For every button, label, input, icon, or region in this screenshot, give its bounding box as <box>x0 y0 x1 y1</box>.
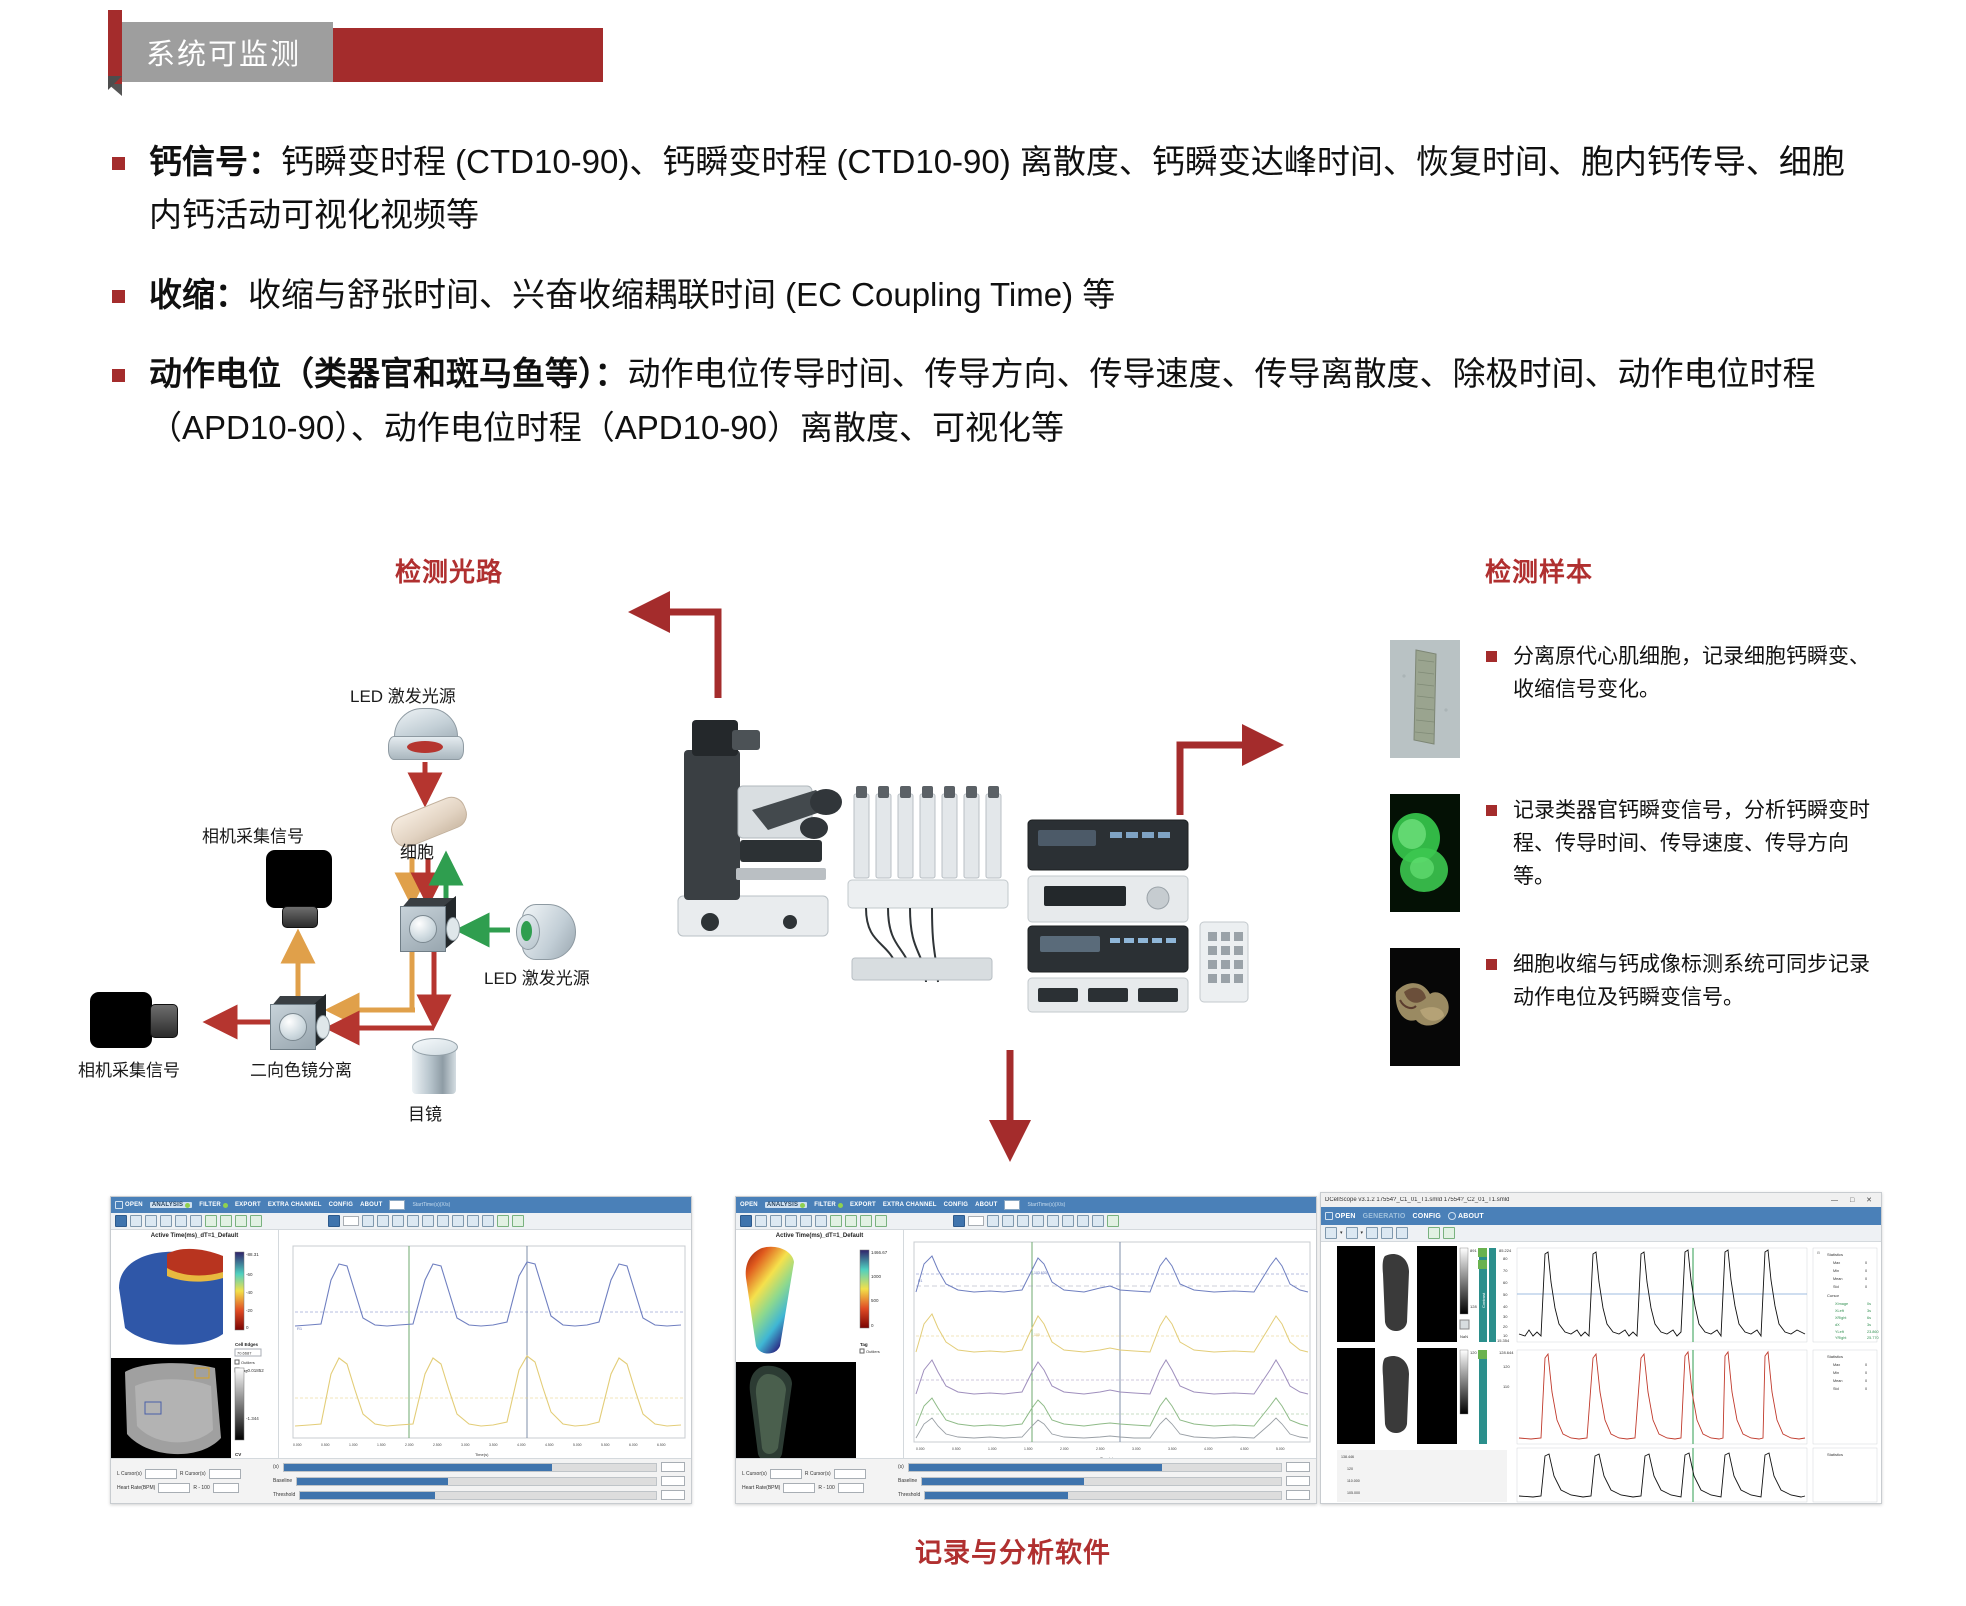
svg-text:5.500: 5.500 <box>601 1443 610 1447</box>
sw3-menu-generation[interactable]: GENERATIO <box>1363 1213 1406 1220</box>
tool-movie-icon[interactable] <box>875 1215 887 1227</box>
svg-text:25.770: 25.770 <box>1867 1336 1879 1340</box>
svg-text:Statistics: Statistics <box>1827 1452 1843 1457</box>
svg-text:Cursor: Cursor <box>1827 1293 1840 1298</box>
sw2-time-slider[interactable] <box>908 1463 1282 1472</box>
tool-zoom-icon[interactable] <box>145 1215 157 1227</box>
sample-text-zebrafish: 细胞收缩与钙成像标测系统可同步记录动作电位及钙瞬变信号。 <box>1513 948 1871 1014</box>
sw2-map-title: Active Time(ms)_dT=1_Default <box>736 1230 903 1240</box>
beam-splitter-cube-upper-icon <box>400 898 456 954</box>
tool-measure-icon[interactable] <box>1396 1227 1408 1239</box>
sw2-toolbar[interactable] <box>736 1213 1316 1230</box>
svg-text:891: 891 <box>1470 1248 1477 1253</box>
sw1-baseline-input[interactable] <box>661 1476 685 1486</box>
svg-text:0: 0 <box>1865 1363 1867 1367</box>
svg-text:Min: Min <box>1833 1371 1839 1375</box>
sw2-starttime-label: StartTime(s)(X/s) <box>1027 1202 1065 1208</box>
tool-image-icon[interactable] <box>845 1215 857 1227</box>
svg-text:100: 100 <box>1034 1333 1040 1337</box>
sw1-baseline-slider[interactable] <box>296 1477 657 1486</box>
tool-slope-icon[interactable] <box>1346 1227 1358 1239</box>
svg-text:0: 0 <box>1865 1285 1867 1289</box>
caption-optical-path: 检测光路 <box>395 552 503 589</box>
sw1-menu-filter[interactable]: FILTER <box>199 1202 228 1208</box>
trace-conduction-icon[interactable] <box>467 1215 479 1227</box>
svg-text:0: 0 <box>1865 1277 1867 1281</box>
sw1-menu-about[interactable]: ABOUT <box>360 1202 382 1208</box>
sw1-threshold-slider[interactable] <box>299 1491 657 1500</box>
channel-count-input[interactable] <box>968 1216 984 1226</box>
header-gray-plate: 系统可监测 <box>122 22 333 82</box>
svg-text:⊟: ⊟ <box>1817 1251 1820 1255</box>
detection-sample-list: 分离原代心肌细胞，记录细胞钙瞬变、收缩信号变化。 记录类器官钙瞬变信号，分析钙瞬… <box>1390 640 1910 1102</box>
svg-text:5.000: 5.000 <box>1276 1447 1285 1451</box>
bullet-label-action-potential: 动作电位（类器官和斑马鱼等）： <box>149 355 628 392</box>
svg-text:3.000: 3.000 <box>1132 1447 1141 1451</box>
svg-text:120: 120 <box>1503 1364 1510 1369</box>
sw2-r-cursor-input[interactable] <box>834 1469 866 1479</box>
svg-text:Max: Max <box>1833 1261 1840 1265</box>
svg-text:128: 128 <box>1470 1304 1477 1309</box>
led-excitation-source-top-icon <box>388 708 462 758</box>
organoid-fluorescence-photo <box>1390 794 1460 912</box>
trace-stats-icon[interactable] <box>482 1215 494 1227</box>
sw2-menu-export[interactable]: EXPORT <box>850 1202 876 1208</box>
svg-text:-60: -60 <box>246 1272 253 1277</box>
status-dot-icon <box>838 1203 843 1208</box>
svg-text:CV: CV <box>235 1452 241 1457</box>
svg-text:YLeft: YLeft <box>1835 1330 1845 1334</box>
bullet-square-icon <box>1486 651 1497 662</box>
sw3-charts[interactable]: 891 128 NaN Contrast 85.224 807060 50403… <box>1321 1242 1881 1504</box>
svg-text:Mean: Mean <box>1833 1277 1843 1281</box>
svg-text:XImage: XImage <box>1835 1302 1848 1306</box>
tool-layers-icon[interactable] <box>235 1215 247 1227</box>
sw2-menu-open[interactable]: OPEN <box>740 1202 758 1208</box>
svg-text:-40: -40 <box>246 1290 253 1295</box>
svg-text:6.500: 6.500 <box>657 1443 666 1447</box>
sample-text-cardiomyocyte: 分离原代心肌细胞，记录细胞钙瞬变、收缩信号变化。 <box>1513 640 1871 706</box>
sw2-time-input[interactable] <box>1286 1462 1310 1472</box>
svg-text:-88.31: -88.31 <box>246 1252 259 1257</box>
sw3-menubar[interactable]: OPEN GENERATIO CONFIG ABOUT <box>1321 1207 1881 1225</box>
svg-text:1.500: 1.500 <box>377 1443 386 1447</box>
svg-text:2.000: 2.000 <box>405 1443 414 1447</box>
bullet-text-calcium: 钙信号：钙瞬变时程 (CTD10-90)、钙瞬变时程 (CTD10-90) 离散… <box>149 135 1872 242</box>
svg-text:3s: 3s <box>1867 1323 1871 1327</box>
tool-select-icon[interactable] <box>115 1215 127 1227</box>
sw1-status-bar[interactable]: L Cursor(s)R Cursor(s) Heart Rate(BPM)R … <box>111 1458 691 1503</box>
tool-map-icon[interactable] <box>800 1215 812 1227</box>
svg-text:128.644: 128.644 <box>1499 1350 1514 1355</box>
bullet-square-icon <box>112 290 125 303</box>
bullet-item-contraction: 收缩：收缩与舒张时间、兴奋收缩耦联时间 (EC Coupling Time) 等 <box>112 268 1872 321</box>
trace-ctd-icon[interactable] <box>1077 1215 1089 1227</box>
eyepiece-icon <box>412 1038 456 1096</box>
trace-baseline-icon[interactable] <box>1032 1215 1044 1227</box>
svg-text:0: 0 <box>1865 1261 1867 1265</box>
trace-ctd-icon[interactable] <box>452 1215 464 1227</box>
svg-text:0.000: 0.000 <box>916 1447 925 1451</box>
sw1-time-input[interactable] <box>661 1462 685 1472</box>
sw2-menu-extra-channel[interactable]: EXTRA CHANNEL <box>883 1202 937 1208</box>
sw1-menu-export[interactable]: EXPORT <box>235 1202 261 1208</box>
svg-text:80: 80 <box>1503 1256 1508 1261</box>
svg-text:3.000: 3.000 <box>461 1443 470 1447</box>
svg-text:0: 0 <box>246 1325 249 1330</box>
sw1-menu-open[interactable]: OPEN <box>115 1201 143 1209</box>
svg-text:2.500: 2.500 <box>433 1443 442 1447</box>
trace-print-icon[interactable] <box>512 1215 524 1227</box>
status-dot-icon <box>223 1203 228 1208</box>
tool-image-icon[interactable] <box>220 1215 232 1227</box>
sw2-menu-filter[interactable]: FILTER <box>814 1202 843 1208</box>
svg-text:40: 40 <box>1503 1304 1508 1309</box>
sample-item-organoid: 记录类器官钙瞬变信号，分析钙瞬变时程、传导时间、传导速度、传导方向等。 <box>1390 794 1910 912</box>
calcium-transient-traces-window-1[interactable]: R1 0.0000.5001.000 1.5002.0002.500 3.000… <box>279 1230 691 1476</box>
svg-text:3s: 3s <box>1867 1309 1871 1313</box>
sw3-menu-open[interactable]: OPEN <box>1325 1212 1356 1220</box>
sw2-menubar[interactable]: OPEN ANALYSIS FILTER EXPORT EXTRA CHANNE… <box>736 1197 1316 1213</box>
tool-peak-icon[interactable] <box>1325 1227 1337 1239</box>
label-camera-top: 相机采集信号 <box>202 822 304 847</box>
svg-text:138.446: 138.446 <box>1341 1455 1354 1459</box>
bullet-label-calcium: 钙信号： <box>149 143 281 180</box>
sw2-threshold-input[interactable] <box>1286 1490 1310 1500</box>
sw1-menu-analysis[interactable]: ANALYSIS <box>150 1202 192 1208</box>
svg-text:Statistics: Statistics <box>1827 1354 1843 1359</box>
bullet-body-contraction: 收缩与舒张时间、兴奋收缩耦联时间 (EC Coupling Time) 等 <box>248 276 1115 313</box>
led-excitation-source-side-icon <box>512 900 574 962</box>
label-cell: 细胞 <box>400 838 434 863</box>
svg-text:120: 120 <box>1347 1467 1353 1471</box>
svg-text:70.6687: 70.6687 <box>237 1351 252 1356</box>
svg-text:6s: 6s <box>1867 1316 1871 1320</box>
sw2-menu-config[interactable]: CONFIG <box>944 1202 969 1208</box>
svg-text:-20: -20 <box>246 1308 253 1313</box>
sw3-title-bar[interactable]: DCellScope v3.1.2 17554?_C1_01_T1.smld 1… <box>1321 1193 1881 1207</box>
trace-fit-icon[interactable] <box>362 1215 374 1227</box>
svg-text:3.500: 3.500 <box>489 1443 498 1447</box>
mapping-analysis-window-1[interactable]: OPEN ANALYSIS FILTER EXPORT EXTRA CHANNE… <box>110 1196 692 1504</box>
calcium-transient-traces-window-2[interactable]: R1 103.630 100 0.0000.5001.000 1.5002.00… <box>904 1230 1316 1476</box>
sample-item-zebrafish: 细胞收缩与钙成像标测系统可同步记录动作电位及钙瞬变信号。 <box>1390 948 1910 1066</box>
header-red-bar <box>108 10 122 84</box>
feature-bullet-list: 钙信号：钙瞬变时程 (CTD10-90)、钙瞬变时程 (CTD10-90) 离散… <box>112 135 1872 480</box>
mapping-analysis-window-2[interactable]: OPEN ANALYSIS FILTER EXPORT EXTRA CHANNE… <box>735 1196 1317 1504</box>
page-header-banner: 系统可监测 <box>108 22 603 82</box>
sw1-menubar[interactable]: OPEN ANALYSIS FILTER EXPORT EXTRA CHANNE… <box>111 1197 691 1213</box>
svg-text:70: 70 <box>1503 1268 1508 1273</box>
trace-conduction-icon[interactable] <box>1092 1215 1104 1227</box>
svg-text:5.000: 5.000 <box>573 1443 582 1447</box>
svg-text:85.224: 85.224 <box>1499 1248 1512 1253</box>
svg-text:1466.67: 1466.67 <box>871 1250 888 1255</box>
svg-text:120: 120 <box>1470 1350 1477 1355</box>
svg-text:3.500: 3.500 <box>1168 1447 1177 1451</box>
svg-text:Std: Std <box>1833 1387 1839 1391</box>
tool-layers-icon[interactable] <box>860 1215 872 1227</box>
svg-text:4.000: 4.000 <box>1204 1447 1213 1451</box>
label-dichroic: 二向色镜分离 <box>250 1056 352 1081</box>
tool-dropdown-caret-icon[interactable]: ▾ <box>1340 1230 1343 1236</box>
svg-text:6.000: 6.000 <box>629 1443 638 1447</box>
dcellscope-window[interactable]: DCellScope v3.1.2 17554?_C1_01_T1.smld 1… <box>1320 1192 1882 1504</box>
svg-text:dX: dX <box>1835 1323 1840 1327</box>
trace-peak-icon[interactable] <box>1002 1215 1014 1227</box>
tool-area-icon[interactable] <box>1366 1227 1378 1239</box>
svg-text:R1: R1 <box>918 1279 923 1283</box>
trace-apd-icon[interactable] <box>1062 1215 1074 1227</box>
trace-export-icon[interactable] <box>497 1215 509 1227</box>
trace-fit-icon[interactable] <box>987 1215 999 1227</box>
status-dot-icon <box>800 1203 805 1208</box>
svg-text:2.000: 2.000 <box>1060 1447 1069 1451</box>
tool-save-icon[interactable] <box>830 1215 842 1227</box>
sw1-time-slider[interactable] <box>283 1463 657 1472</box>
svg-text:20: 20 <box>1503 1324 1508 1329</box>
svg-text:0.500: 0.500 <box>952 1447 961 1451</box>
svg-text:0: 0 <box>1865 1387 1867 1391</box>
svg-text:Tag: Tag <box>860 1342 868 1347</box>
svg-text:0s: 0s <box>1867 1302 1871 1306</box>
tool-grid-icon[interactable] <box>160 1215 172 1227</box>
sw3-menu-config[interactable]: CONFIG <box>1413 1213 1441 1220</box>
svg-text:Min: Min <box>1833 1269 1839 1273</box>
bullet-item-calcium: 钙信号：钙瞬变时程 (CTD10-90)、钙瞬变时程 (CTD10-90) 离散… <box>112 135 1872 242</box>
tool-crop-icon[interactable] <box>130 1215 142 1227</box>
bullet-label-contraction: 收缩： <box>149 276 248 313</box>
svg-text:0.000: 0.000 <box>293 1443 302 1447</box>
trace-slope-icon[interactable] <box>1017 1215 1029 1227</box>
sw1-map-title: Active Time(ms)_dT=1_Default <box>111 1230 278 1240</box>
svg-text:4.500: 4.500 <box>1240 1447 1249 1451</box>
svg-text:Mean: Mean <box>1833 1379 1843 1383</box>
sw1-r-cursor-input[interactable] <box>209 1469 241 1479</box>
sw2-status-bar[interactable]: L Cursor(s)R Cursor(s) Heart Rate(BPM)R … <box>736 1458 1316 1503</box>
dichroic-mirror-cube-icon <box>270 996 326 1052</box>
info-icon <box>1448 1212 1456 1220</box>
trace-peak-icon[interactable] <box>377 1215 389 1227</box>
tool-grid-icon[interactable] <box>785 1215 797 1227</box>
trace-slope-icon[interactable] <box>392 1215 404 1227</box>
sw3-toolbar[interactable]: ▾ ▾ <box>1321 1225 1881 1242</box>
sw2-menu-analysis[interactable]: ANALYSIS <box>765 1202 807 1208</box>
bullet-square-icon <box>112 369 125 382</box>
sample-item-cardiomyocyte: 分离原代心肌细胞，记录细胞钙瞬变、收缩信号变化。 <box>1390 640 1910 758</box>
sw2-baseline-slider[interactable] <box>921 1477 1282 1486</box>
tool-dual-trace-icon[interactable] <box>1381 1227 1393 1239</box>
sw1-l-cursor-input[interactable] <box>145 1469 177 1479</box>
caption-recording-software: 记录与分析软件 <box>915 1531 1111 1570</box>
tool-movie-icon[interactable] <box>250 1215 262 1227</box>
svg-text:Max: Max <box>1833 1363 1840 1367</box>
svg-text:0: 0 <box>1865 1371 1867 1375</box>
svg-text:-0.01852: -0.01852 <box>246 1368 264 1373</box>
svg-text:Statistics: Statistics <box>1827 1252 1843 1257</box>
svg-text:0: 0 <box>871 1323 874 1328</box>
svg-text:60: 60 <box>1503 1280 1508 1285</box>
sw3-window-controls[interactable]: — □ ✕ <box>1831 1196 1877 1204</box>
open-folder-icon <box>115 1201 123 1209</box>
trace-export-icon[interactable] <box>1107 1215 1119 1227</box>
svg-text:Cell Edges: Cell Edges <box>235 1342 259 1347</box>
sw1-starttime-input[interactable] <box>389 1200 405 1210</box>
bullet-text-action-potential: 动作电位（类器官和斑马鱼等）：动作电位传导时间、传导方向、传导速度、传导离散度、… <box>149 347 1872 454</box>
tool-export-icon[interactable] <box>1428 1227 1440 1239</box>
sw3-body: 891 128 NaN Contrast 85.224 807060 50403… <box>1321 1242 1881 1504</box>
sw1-x-axis-label: Time(s) <box>475 1452 489 1457</box>
svg-text:105.000: 105.000 <box>1347 1491 1360 1495</box>
connector-arrow-to-sample <box>1160 700 1340 830</box>
bullet-square-icon <box>112 157 125 170</box>
caption-detection-sample: 检测样本 <box>1485 552 1593 589</box>
svg-text:Contrast: Contrast <box>1481 1292 1486 1308</box>
sw2-heart-rate-input[interactable] <box>783 1483 815 1493</box>
sw1-heart-rate-input[interactable] <box>158 1483 190 1493</box>
trace-marker-icon[interactable] <box>1047 1215 1059 1227</box>
svg-text:50: 50 <box>1503 1292 1508 1297</box>
status-dot-icon <box>185 1203 190 1208</box>
sw1-r100-input[interactable] <box>213 1483 239 1493</box>
svg-text:2.500: 2.500 <box>1096 1447 1105 1451</box>
sw1-menu-extra-channel[interactable]: EXTRA CHANNEL <box>268 1202 322 1208</box>
page-title: 系统可监测 <box>146 31 301 73</box>
sw2-l-cursor-input[interactable] <box>770 1469 802 1479</box>
tool-map-icon[interactable] <box>175 1215 187 1227</box>
sw2-baseline-input[interactable] <box>1286 1476 1310 1486</box>
svg-text:NaN: NaN <box>1460 1334 1468 1339</box>
connector-arrow-to-optical-path <box>600 580 780 710</box>
label-camera-left: 相机采集信号 <box>78 1056 180 1081</box>
svg-text:103.630: 103.630 <box>1034 1271 1047 1275</box>
svg-text:-1.344: -1.344 <box>246 1416 259 1421</box>
svg-text:110: 110 <box>1503 1384 1510 1389</box>
sw3-menu-about[interactable]: ABOUT <box>1448 1212 1484 1220</box>
svg-text:1.000: 1.000 <box>988 1447 997 1451</box>
tool-mask-icon[interactable] <box>815 1215 827 1227</box>
svg-text:1.500: 1.500 <box>1024 1447 1033 1451</box>
sample-text-organoid: 记录类器官钙瞬变信号，分析钙瞬变时程、传导时间、传导速度、传导方向等。 <box>1513 794 1871 894</box>
svg-text:1.000: 1.000 <box>349 1443 358 1447</box>
activation-map-window-2[interactable]: 1466.67 1000 500 0 Tag Outliers <box>736 1242 904 1488</box>
zebrafish-heart-photo <box>1390 948 1460 1066</box>
sw3-title-text: DCellScope v3.1.2 17554?_C1_01_T1.smld 1… <box>1325 1197 1509 1203</box>
bullet-item-action-potential: 动作电位（类器官和斑马鱼等）：动作电位传导时间、传导方向、传导速度、传导离散度、… <box>112 347 1872 454</box>
tool-save-icon[interactable] <box>205 1215 217 1227</box>
label-led-top: LED 激发光源 <box>350 682 456 707</box>
label-led-side: LED 激发光源 <box>484 964 590 989</box>
sw2-starttime-input[interactable] <box>1004 1200 1020 1210</box>
svg-text:Std: Std <box>1833 1285 1839 1289</box>
svg-text:0.500: 0.500 <box>321 1443 330 1447</box>
sw1-menu-config[interactable]: CONFIG <box>329 1202 354 1208</box>
tool-dropdown-caret-icon[interactable]: ▾ <box>1361 1230 1364 1236</box>
open-folder-icon <box>1325 1212 1333 1220</box>
svg-text:500: 500 <box>871 1298 879 1303</box>
activation-map-window-1[interactable]: -88.31 -60 -40 -20 0 Cell Edges 70.6687 … <box>111 1242 279 1488</box>
trace-marker-icon[interactable] <box>422 1215 434 1227</box>
tool-zoom-icon[interactable] <box>770 1215 782 1227</box>
trace-apd-icon[interactable] <box>437 1215 449 1227</box>
svg-text:110.000: 110.000 <box>1347 1479 1360 1483</box>
trace-tool-icon[interactable] <box>328 1215 340 1227</box>
trace-tool-icon[interactable] <box>953 1215 965 1227</box>
trace-baseline-icon[interactable] <box>407 1215 419 1227</box>
sw2-threshold-slider[interactable] <box>924 1491 1282 1500</box>
tool-select-icon[interactable] <box>740 1215 752 1227</box>
svg-text:23.860: 23.860 <box>1867 1330 1879 1334</box>
svg-text:4.500: 4.500 <box>545 1443 554 1447</box>
svg-text:0: 0 <box>1865 1269 1867 1273</box>
bullet-square-icon <box>1486 959 1497 970</box>
connector-arrow-to-software <box>980 1040 1040 1170</box>
isolated-cardiomyocyte-photo <box>1390 640 1460 758</box>
sw1-threshold-input[interactable] <box>661 1490 685 1500</box>
svg-text:R1: R1 <box>297 1326 303 1331</box>
header-red-plate <box>333 28 603 82</box>
bullet-body-calcium: 钙瞬变时程 (CTD10-90)、钙瞬变时程 (CTD10-90) 离散度、钙瞬… <box>149 143 1845 233</box>
svg-text:1000: 1000 <box>871 1274 882 1279</box>
label-eyepiece: 目镜 <box>408 1100 442 1125</box>
bullet-square-icon <box>1486 805 1497 816</box>
tool-mask-icon[interactable] <box>190 1215 202 1227</box>
tool-crop-icon[interactable] <box>755 1215 767 1227</box>
svg-text:XLeft: XLeft <box>1835 1309 1845 1313</box>
sw1-starttime-label: StartTime(s)(X/s) <box>412 1202 450 1208</box>
svg-text:Outliers: Outliers <box>241 1360 255 1365</box>
svg-text:15.354: 15.354 <box>1497 1338 1510 1343</box>
svg-text:30: 30 <box>1503 1314 1508 1319</box>
channel-count-input[interactable] <box>343 1216 359 1226</box>
sw2-menu-about[interactable]: ABOUT <box>975 1202 997 1208</box>
sw1-toolbar[interactable] <box>111 1213 691 1230</box>
svg-text:4.000: 4.000 <box>517 1443 526 1447</box>
svg-text:XRight: XRight <box>1835 1316 1847 1320</box>
bullet-text-contraction: 收缩：收缩与舒张时间、兴奋收缩耦联时间 (EC Coupling Time) 等 <box>149 268 1115 321</box>
svg-text:Outliers: Outliers <box>866 1349 880 1354</box>
sw2-r100-input[interactable] <box>838 1483 864 1493</box>
tool-print-icon[interactable] <box>1443 1227 1455 1239</box>
svg-text:0: 0 <box>1865 1379 1867 1383</box>
svg-text:YRight: YRight <box>1835 1336 1847 1340</box>
